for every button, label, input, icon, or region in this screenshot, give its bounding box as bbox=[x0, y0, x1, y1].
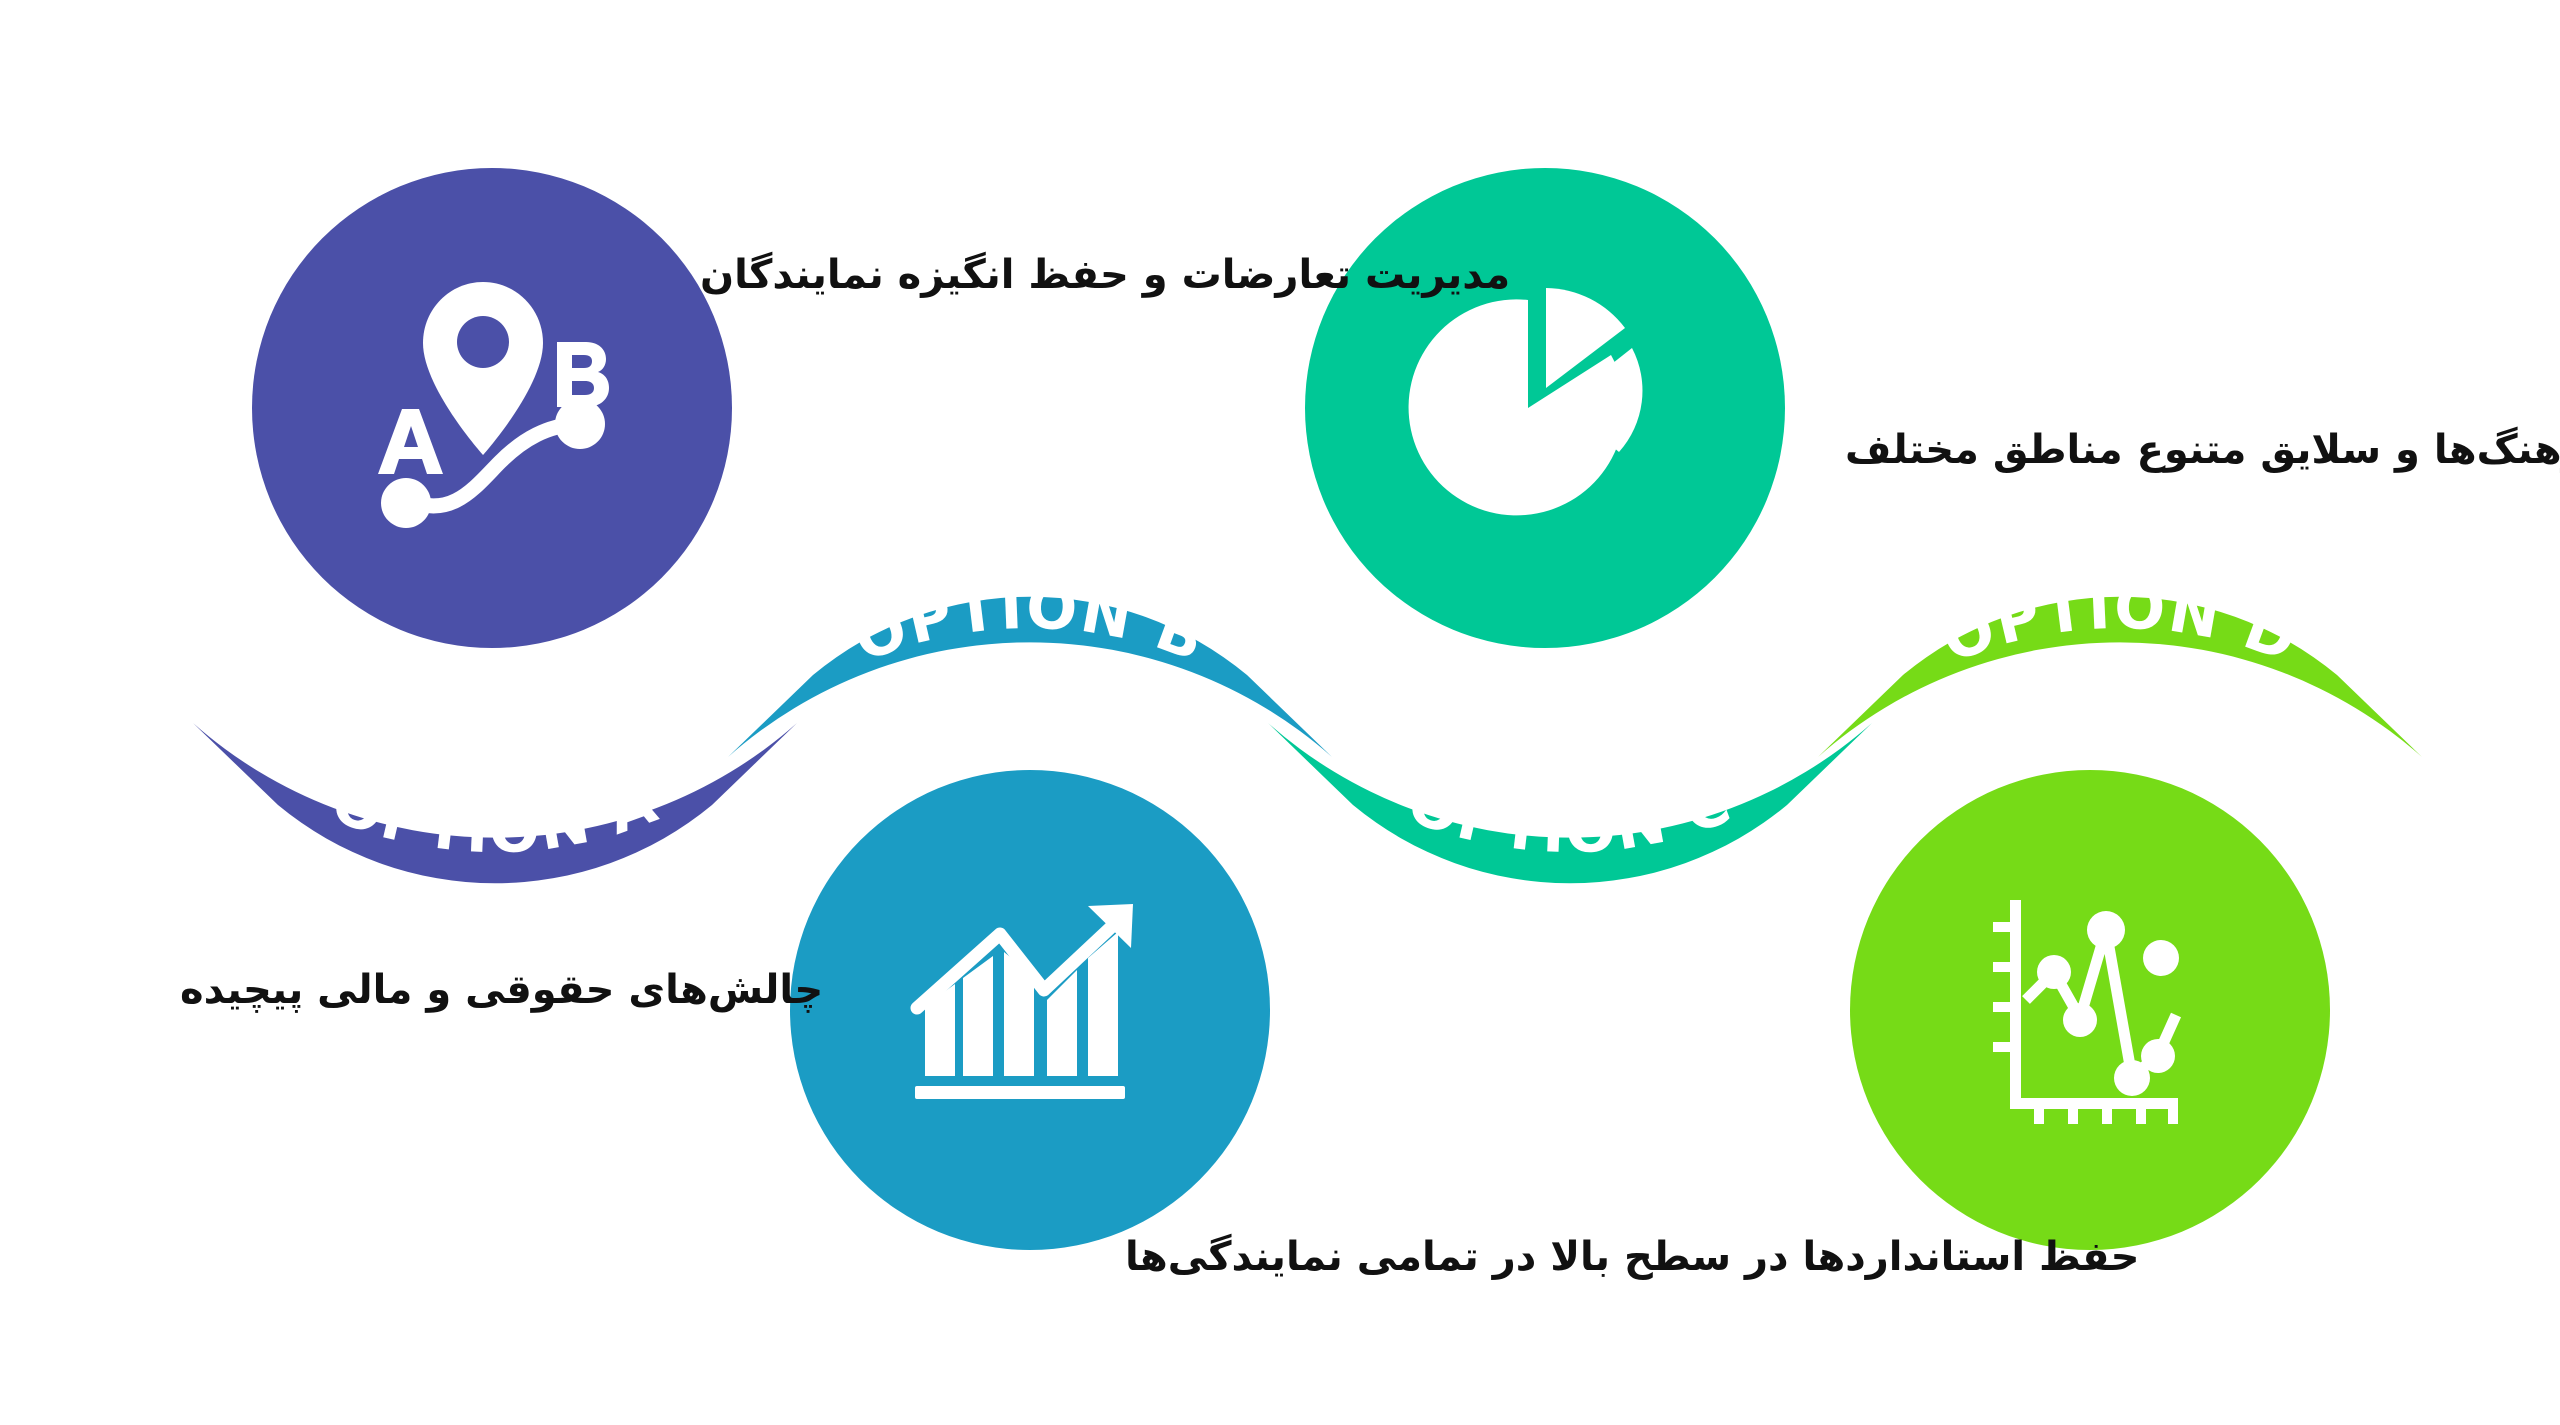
option-circles bbox=[0, 0, 2560, 1425]
option-d-circle[interactable] bbox=[1850, 770, 2330, 1250]
label-option-d-description: حفظ استانداردها در سطح بالا در تمامی نما… bbox=[1125, 1232, 2139, 1282]
label-option-c-description: فرهنگ‌ها و سلایق متنوع مناطق مختلف bbox=[1845, 425, 2560, 475]
infographic-canvas: OPTION A OPTION B OPTION C OPTION D bbox=[0, 0, 2560, 1425]
option-b-circle[interactable] bbox=[790, 770, 1270, 1250]
option-c-circle[interactable] bbox=[1305, 168, 1785, 648]
label-option-a-description: مدیریت تعارضات و حفظ انگیزه نمایندگان bbox=[700, 250, 1510, 300]
option-a-circle[interactable] bbox=[252, 168, 732, 648]
label-option-b-description: چالش‌های حقوقی و مالی پیچیده bbox=[180, 965, 823, 1015]
